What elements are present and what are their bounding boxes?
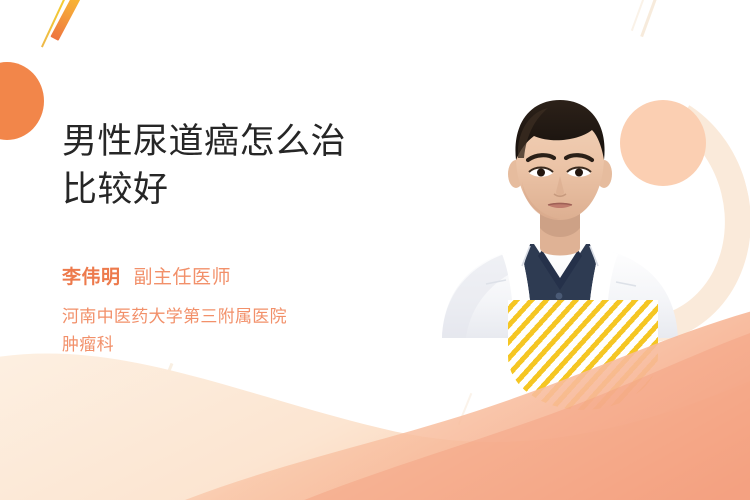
diagonal-stripe-lower-left-icon bbox=[156, 363, 174, 401]
page-title: 男性尿道癌怎么治 比较好 bbox=[62, 118, 422, 214]
health-article-cover-card: 男性尿道癌怎么治 比较好 李伟明 副主任医师 河南中医药大学第三附属医院 肿瘤科 bbox=[0, 0, 750, 500]
diagonal-stripe-lower-mid-icon bbox=[458, 393, 473, 425]
diagonal-stripe-cream-a-icon bbox=[640, 0, 659, 37]
diagonal-stripe-orange-icon bbox=[50, 0, 84, 41]
orange-circle-decoration bbox=[0, 62, 44, 140]
diagonal-stripe-cream-b-icon bbox=[631, 0, 647, 31]
doctor-meta-row: 李伟明 副主任医师 bbox=[62, 262, 422, 289]
doctor-name: 李伟明 bbox=[62, 262, 121, 289]
doctor-job-title: 副主任医师 bbox=[134, 262, 232, 289]
doctor-hospital: 河南中医药大学第三附属医院 肿瘤科 bbox=[62, 303, 422, 359]
diagonal-stripe-yellow-icon bbox=[41, 0, 69, 48]
text-block: 男性尿道癌怎么治 比较好 李伟明 副主任医师 河南中医药大学第三附属医院 肿瘤科 bbox=[62, 118, 422, 359]
doctor-portrait bbox=[430, 78, 690, 338]
